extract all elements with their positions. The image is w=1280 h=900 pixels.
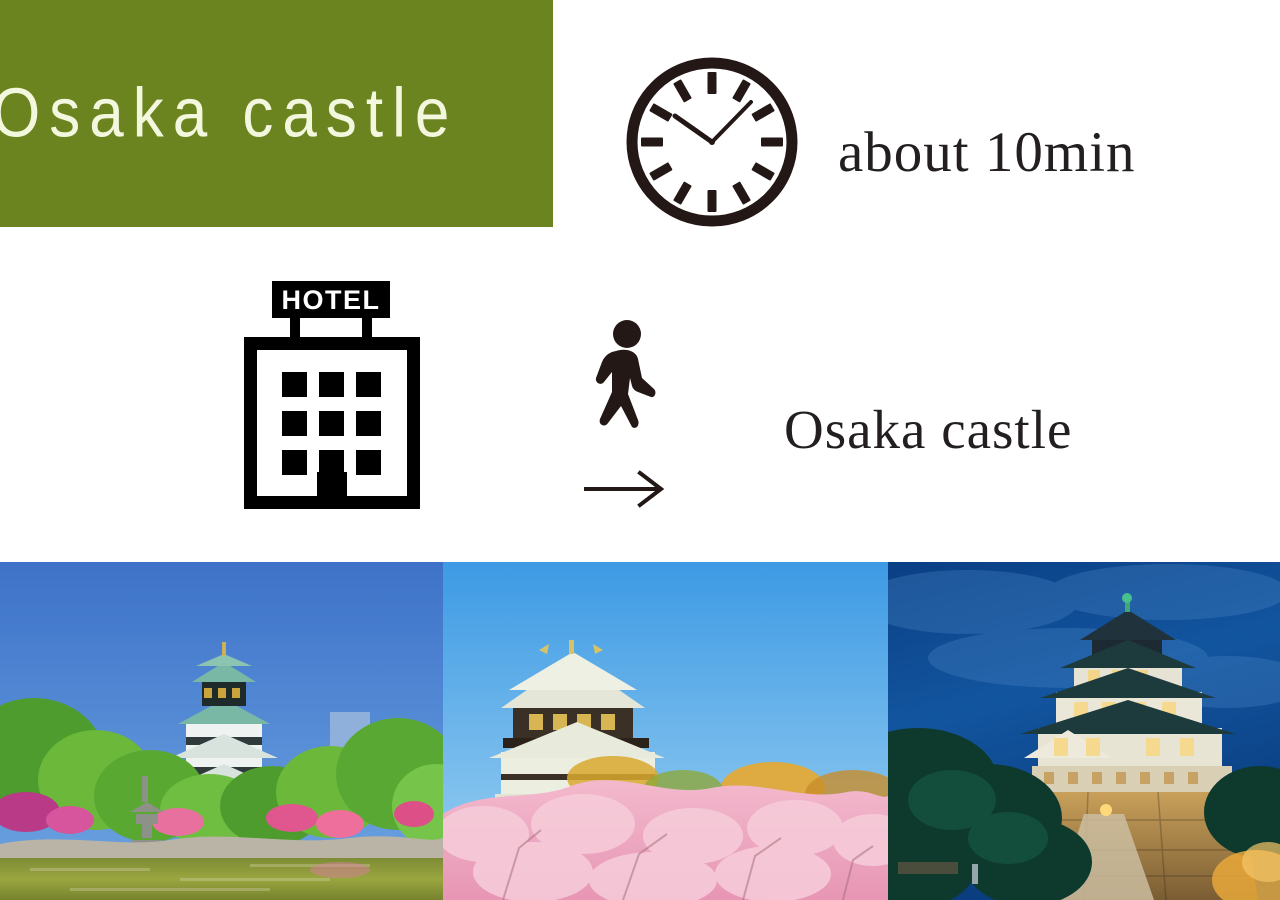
walking-person-icon — [578, 320, 668, 460]
analog-clock-icon — [623, 54, 801, 230]
svg-text:HOTEL: HOTEL — [282, 285, 381, 315]
photo-osaka-castle-cherry-blossom — [443, 562, 888, 900]
osaka-castle-access-panel: Osaka castle — [0, 0, 1280, 900]
photo-gallery — [0, 562, 1280, 900]
page-title: Osaka castle — [0, 79, 458, 148]
travel-time-label: about 10min — [838, 124, 1136, 181]
hotel-building-icon: HOTEL — [240, 276, 424, 514]
destination-label: Osaka castle — [784, 402, 1072, 457]
title-banner: Osaka castle — [0, 0, 553, 227]
right-arrow-icon — [580, 468, 670, 508]
photo-osaka-castle-garden-pond-daytime — [0, 562, 443, 900]
photo-osaka-castle-night-illumination — [888, 562, 1280, 900]
